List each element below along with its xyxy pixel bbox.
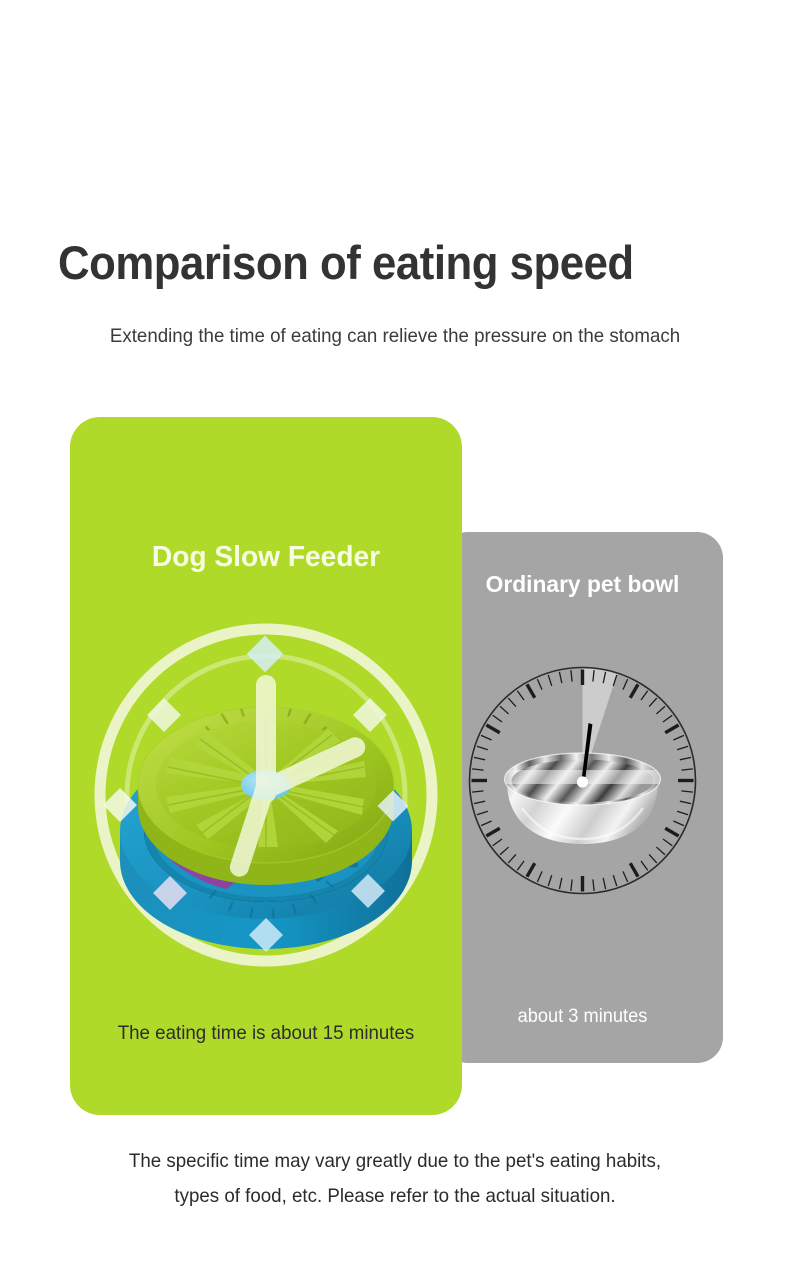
slow-feeder-title: Dog Slow Feeder xyxy=(76,541,456,574)
footer-line-1: The specific time may vary greatly due t… xyxy=(16,1144,774,1179)
slow-feeder-caption: The eating time is about 15 minutes xyxy=(78,1022,454,1045)
clock-center-dot xyxy=(577,776,588,787)
tick-marker xyxy=(147,698,181,732)
comparison-cards: Ordinary pet bowl xyxy=(0,0,790,1263)
tick-marker xyxy=(353,698,387,732)
stainless-bowl-icon xyxy=(504,753,661,844)
ordinary-bowl-title: Ordinary pet bowl xyxy=(446,571,719,598)
ordinary-bowl-caption: about 3 minutes xyxy=(448,1006,718,1028)
footer-disclaimer: The specific time may vary greatly due t… xyxy=(16,1144,774,1214)
slow-feeder-illustration xyxy=(86,617,446,977)
footer-line-2: types of food, etc. Please refer to the … xyxy=(16,1179,774,1214)
tick-marker xyxy=(247,636,284,673)
ordinary-bowl-illustration xyxy=(460,658,705,903)
slow-feeder-card: Dog Slow Feeder xyxy=(70,417,462,1115)
ordinary-bowl-card: Ordinary pet bowl xyxy=(442,532,723,1063)
